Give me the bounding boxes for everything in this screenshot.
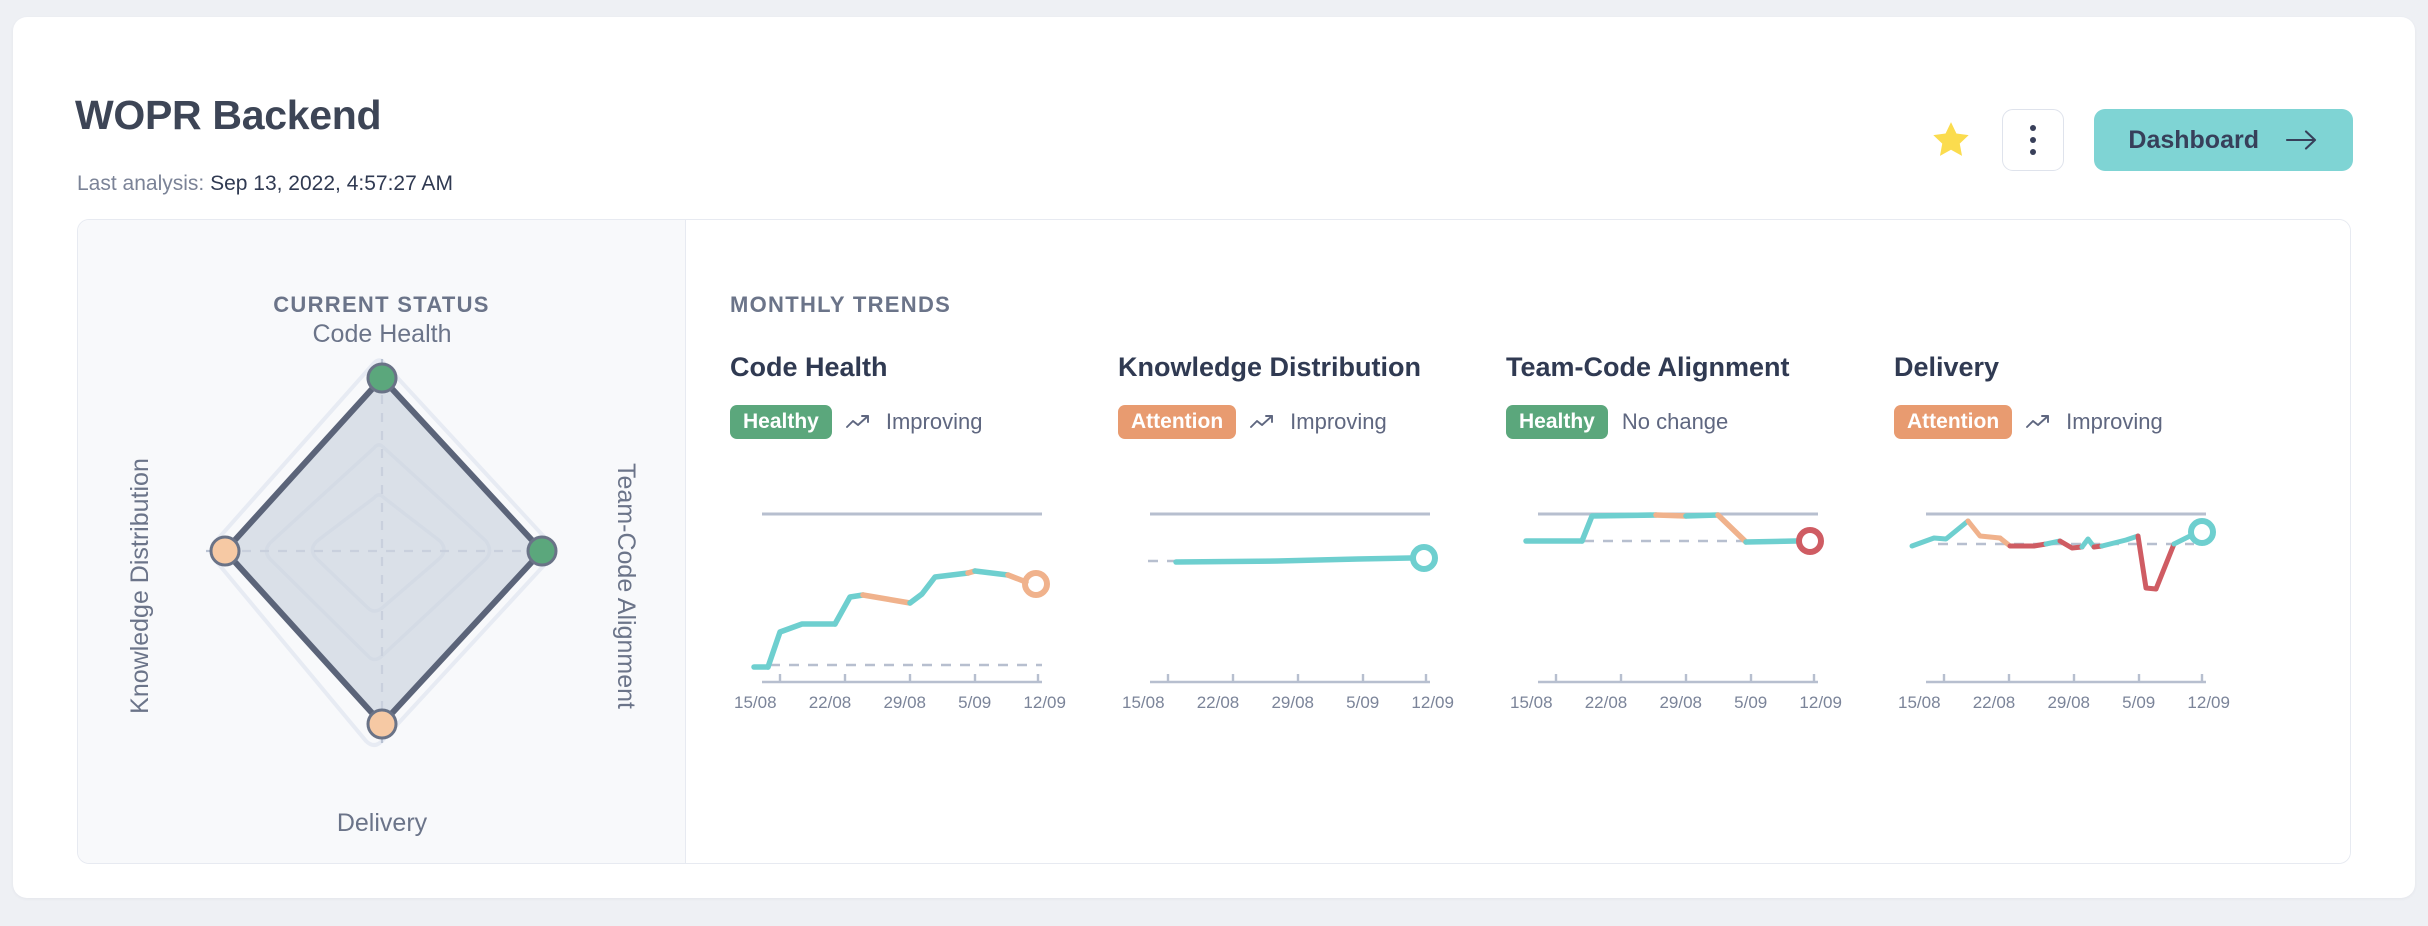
star-icon[interactable] bbox=[1930, 119, 1972, 161]
status-badge: Attention bbox=[1894, 405, 2012, 439]
last-analysis: Last analysis: Sep 13, 2022, 4:57:27 AM bbox=[77, 172, 453, 196]
radar-chart: Code Health Delivery Knowledge Distribut… bbox=[78, 256, 685, 864]
dashboard-button-label: Dashboard bbox=[2128, 126, 2259, 155]
dashboard-button[interactable]: Dashboard bbox=[2094, 109, 2353, 171]
status-badge: Healthy bbox=[1506, 405, 1608, 439]
monthly-trends-section: MONTHLY TRENDS Code Health Healthy Impro… bbox=[686, 220, 2350, 863]
trend-direction: Improving bbox=[1290, 409, 1387, 435]
series-line bbox=[1912, 521, 2190, 589]
radar-axis-label-team-code-alignment: Team-Code Alignment bbox=[612, 463, 640, 709]
series-line bbox=[1176, 558, 1410, 562]
radar-polygon bbox=[225, 378, 542, 724]
sparkline-svg bbox=[1894, 476, 2234, 686]
series-endpoint bbox=[1413, 547, 1435, 569]
x-tick-label: 22/08 bbox=[1197, 693, 1240, 713]
trend-card-code-health: Code Health Healthy Improving bbox=[730, 352, 1118, 686]
x-tick-label: 5/09 bbox=[1734, 693, 1767, 713]
page-header: WOPR Backend Last analysis: Sep 13, 2022… bbox=[13, 17, 2415, 207]
more-vertical-icon bbox=[2030, 137, 2036, 143]
x-tick-label: 12/09 bbox=[2187, 693, 2230, 713]
trend-direction: No change bbox=[1622, 409, 1728, 435]
more-options-button[interactable] bbox=[2002, 109, 2064, 171]
overview-panel: CURRENT STATUS Code Health Delivery Know… bbox=[77, 219, 2351, 864]
x-tick-label: 5/09 bbox=[1346, 693, 1379, 713]
series-endpoint bbox=[1025, 573, 1047, 595]
trend-card-title: Knowledge Distribution bbox=[1118, 352, 1506, 383]
x-tick-label: 12/09 bbox=[1799, 693, 1842, 713]
x-tick-label: 15/08 bbox=[1510, 693, 1553, 713]
radar-point-code-health[interactable] bbox=[368, 364, 396, 392]
x-tick-label: 22/08 bbox=[809, 693, 852, 713]
series-endpoint bbox=[1799, 530, 1821, 552]
x-tick-label: 22/08 bbox=[1585, 693, 1628, 713]
x-tick-label: 29/08 bbox=[1659, 693, 1702, 713]
current-status-section: CURRENT STATUS Code Health Delivery Know… bbox=[78, 220, 686, 863]
x-axis bbox=[1926, 674, 2206, 682]
radar-point-team-code-alignment[interactable] bbox=[528, 537, 556, 565]
sparkline-svg bbox=[730, 476, 1070, 686]
x-axis-labels: 15/08 22/08 29/08 5/09 12/09 bbox=[730, 693, 1070, 713]
x-tick-label: 5/09 bbox=[958, 693, 991, 713]
trend-card-knowledge-distribution: Knowledge Distribution Attention Improvi… bbox=[1118, 352, 1506, 686]
trend-cards: Code Health Healthy Improving bbox=[730, 352, 2330, 686]
x-tick-label: 15/08 bbox=[1898, 693, 1941, 713]
x-axis bbox=[762, 674, 1042, 682]
radar-point-knowledge-distribution[interactable] bbox=[211, 537, 239, 565]
trend-direction: Improving bbox=[886, 409, 983, 435]
trend-status-row: Attention Improving bbox=[1118, 404, 1506, 440]
page-title: WOPR Backend bbox=[75, 92, 381, 139]
last-analysis-value: Sep 13, 2022, 4:57:27 AM bbox=[210, 172, 453, 195]
x-tick-label: 15/08 bbox=[734, 693, 777, 713]
x-axis bbox=[1538, 674, 1818, 682]
trend-card-delivery: Delivery Attention Improving bbox=[1894, 352, 2282, 686]
last-analysis-label: Last analysis: bbox=[77, 172, 204, 195]
radar-axis-label-knowledge-distribution: Knowledge Distribution bbox=[126, 458, 154, 714]
x-axis-labels: 15/08 22/08 29/08 5/09 12/09 bbox=[1894, 693, 2234, 713]
trend-status-row: Healthy Improving bbox=[730, 404, 1118, 440]
sparkline-knowledge-distribution: 15/08 22/08 29/08 5/09 12/09 bbox=[1118, 476, 1458, 686]
more-vertical-icon bbox=[2030, 125, 2036, 131]
x-tick-label: 22/08 bbox=[1973, 693, 2016, 713]
x-tick-label: 5/09 bbox=[2122, 693, 2155, 713]
trend-status-row: Attention Improving bbox=[1894, 404, 2282, 440]
x-tick-label: 12/09 bbox=[1411, 693, 1454, 713]
sparkline-team-code-alignment: 15/08 22/08 29/08 5/09 12/09 bbox=[1506, 476, 1846, 686]
trend-card-team-code-alignment: Team-Code Alignment Healthy No change bbox=[1506, 352, 1894, 686]
radar-point-delivery[interactable] bbox=[368, 710, 396, 738]
trend-direction: Improving bbox=[2066, 409, 2163, 435]
sparkline-svg bbox=[1506, 476, 1846, 686]
page-card: WOPR Backend Last analysis: Sep 13, 2022… bbox=[13, 17, 2415, 898]
monthly-trends-title: MONTHLY TRENDS bbox=[730, 292, 951, 318]
series-line bbox=[1526, 515, 1796, 542]
x-tick-label: 12/09 bbox=[1023, 693, 1066, 713]
radar-axis-label-code-health: Code Health bbox=[313, 320, 452, 348]
sparkline-delivery: 15/08 22/08 29/08 5/09 12/09 bbox=[1894, 476, 2234, 686]
x-axis bbox=[1150, 674, 1430, 682]
x-tick-label: 29/08 bbox=[2047, 693, 2090, 713]
trending-up-icon bbox=[846, 413, 872, 431]
trending-up-icon bbox=[2026, 413, 2052, 431]
series-endpoint bbox=[2191, 521, 2213, 543]
x-axis-labels: 15/08 22/08 29/08 5/09 12/09 bbox=[1118, 693, 1458, 713]
radar-chart-svg: Code Health Delivery Knowledge Distribut… bbox=[78, 256, 686, 864]
status-badge: Healthy bbox=[730, 405, 832, 439]
x-tick-label: 29/08 bbox=[1271, 693, 1314, 713]
more-vertical-icon bbox=[2030, 149, 2036, 155]
sparkline-code-health: 15/08 22/08 29/08 5/09 12/09 bbox=[730, 476, 1070, 686]
radar-axis-label-delivery: Delivery bbox=[337, 809, 428, 837]
header-actions: Dashboard bbox=[1930, 109, 2353, 171]
trending-up-icon bbox=[1250, 413, 1276, 431]
x-axis-labels: 15/08 22/08 29/08 5/09 12/09 bbox=[1506, 693, 1846, 713]
trend-status-row: Healthy No change bbox=[1506, 404, 1894, 440]
x-tick-label: 29/08 bbox=[883, 693, 926, 713]
trend-card-title: Team-Code Alignment bbox=[1506, 352, 1894, 383]
x-tick-label: 15/08 bbox=[1122, 693, 1165, 713]
trend-card-title: Delivery bbox=[1894, 352, 2282, 383]
trend-card-title: Code Health bbox=[730, 352, 1118, 383]
arrow-right-icon bbox=[2285, 129, 2319, 151]
sparkline-svg bbox=[1118, 476, 1458, 686]
status-badge: Attention bbox=[1118, 405, 1236, 439]
series-line bbox=[754, 571, 1026, 667]
